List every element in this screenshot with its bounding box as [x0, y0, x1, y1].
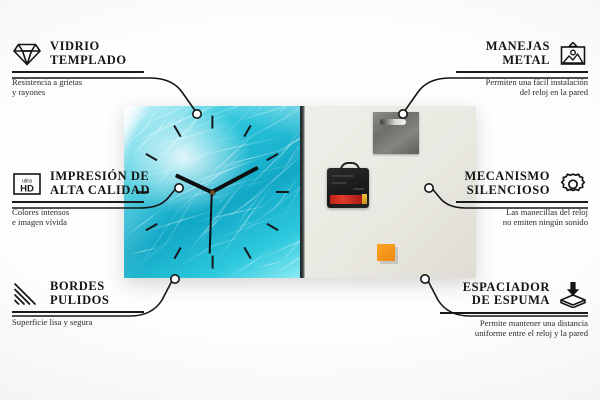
feature-description: Resistencia a grietas y rayones — [12, 77, 144, 98]
svg-text:HD: HD — [20, 183, 34, 194]
infographic-canvas: VIDRIO TEMPLADO Resistencia a grietas y … — [0, 0, 600, 400]
clock-front-glass-panel — [124, 106, 300, 278]
feature-header: ultra HD IMPRESIÓN DE ALTA CALIDAD — [12, 170, 144, 197]
feature-divider — [12, 71, 144, 73]
feature-title-line1: MECANISMO — [464, 170, 550, 184]
feature-title-line1: VIDRIO — [50, 40, 127, 54]
feature-impresion-alta-calidad: ultra HD IMPRESIÓN DE ALTA CALIDAD Color… — [12, 170, 144, 227]
feature-title: MECANISMO SILENCIOSO — [464, 170, 550, 197]
feature-header: MANEJAS METAL — [456, 40, 588, 67]
mechanism-detail — [332, 175, 354, 177]
feature-title-line2: TEMPLADO — [50, 54, 127, 68]
feature-desc-line2: y rayones — [12, 87, 144, 97]
feature-title: BORDES PULIDOS — [50, 280, 109, 307]
mechanism-hanging-loop — [340, 162, 360, 173]
mechanism-detail — [353, 188, 364, 190]
feature-divider — [456, 201, 588, 203]
feature-desc-line1: Permite mantener una distancia — [440, 318, 588, 328]
metal-hanger-plate — [373, 112, 419, 154]
clock-hour-mark — [276, 191, 289, 193]
feature-title-line2: SILENCIOSO — [464, 184, 550, 198]
mechanism-detail — [332, 182, 346, 184]
diamond-icon — [12, 41, 42, 67]
feature-title: MANEJAS METAL — [486, 40, 550, 67]
feature-description: Las manecillas del reloj no emiten ningú… — [456, 207, 588, 228]
feature-title-line2: ALTA CALIDAD — [50, 184, 150, 198]
feature-divider — [456, 71, 588, 73]
clock-hour-mark — [211, 115, 213, 128]
feature-bordes-pulidos: BORDES PULIDOS Superficie lisa y segura — [12, 280, 144, 327]
feature-header: ESPACIADOR DE ESPUMA — [440, 280, 588, 308]
feature-title-line1: BORDES — [50, 280, 109, 294]
picture-frame-hook-icon — [558, 41, 588, 67]
ultra-hd-icon: ultra HD — [12, 171, 42, 197]
feature-description: Permiten una fácil instalación del reloj… — [456, 77, 588, 98]
feature-desc-line1: Colores intensos — [12, 207, 144, 217]
feature-description: Colores intensos e imagen vívida — [12, 207, 144, 228]
feature-divider — [12, 311, 144, 313]
hanger-keyhole-slot — [380, 119, 406, 125]
feature-divider — [440, 312, 588, 314]
clock-hour-mark — [211, 255, 213, 268]
feature-divider — [12, 201, 144, 203]
polished-edge-icon — [12, 281, 42, 307]
feature-desc-line1: Permiten una fácil instalación — [456, 77, 588, 87]
product-image — [124, 106, 476, 278]
feature-title-line1: IMPRESIÓN DE — [50, 170, 150, 184]
feature-mecanismo-silencioso: MECANISMO SILENCIOSO Las manecillas del … — [456, 170, 588, 227]
feature-vidrio-templado: VIDRIO TEMPLADO Resistencia a grietas y … — [12, 40, 144, 97]
feature-desc-line2: no emiten ningún sonido — [456, 217, 588, 227]
feature-desc-line1: Resistencia a grietas — [12, 77, 144, 87]
feature-title: IMPRESIÓN DE ALTA CALIDAD — [50, 170, 150, 197]
feature-manejas-metal: MANEJAS METAL Permiten una fácil instala… — [456, 40, 588, 97]
arrow-into-layer-icon — [558, 280, 588, 308]
feature-title-line2: DE ESPUMA — [463, 294, 550, 308]
feature-desc-line2: uniforme entre el reloj y la pared — [440, 328, 588, 338]
battery-terminal — [362, 194, 367, 204]
feature-header: VIDRIO TEMPLADO — [12, 40, 144, 67]
feature-header: MECANISMO SILENCIOSO — [456, 170, 588, 197]
clock-mechanism — [327, 168, 369, 208]
feature-title-line2: PULIDOS — [50, 294, 109, 308]
feature-title: ESPACIADOR DE ESPUMA — [463, 281, 550, 308]
feature-espaciador-espuma: ESPACIADOR DE ESPUMA Permite mantener un… — [440, 280, 588, 338]
feature-desc-line1: Superficie lisa y segura — [12, 317, 144, 327]
feature-desc-line2: del reloj en la pared — [456, 87, 588, 97]
feature-title: VIDRIO TEMPLADO — [50, 40, 127, 67]
feature-description: Superficie lisa y segura — [12, 317, 144, 327]
clock-back-panel — [305, 106, 476, 278]
feature-desc-line1: Las manecillas del reloj — [456, 207, 588, 217]
clock-center-hub — [210, 190, 215, 195]
foam-spacer — [377, 244, 395, 261]
gear-icon — [558, 171, 588, 197]
battery — [330, 195, 362, 204]
feature-title-line1: MANEJAS — [486, 40, 550, 54]
feature-description: Permite mantener una distancia uniforme … — [440, 318, 588, 339]
feature-desc-line2: e imagen vívida — [12, 217, 144, 227]
feature-header: BORDES PULIDOS — [12, 280, 144, 307]
feature-title-line2: METAL — [486, 54, 550, 68]
feature-title-line1: ESPACIADOR — [463, 281, 550, 295]
